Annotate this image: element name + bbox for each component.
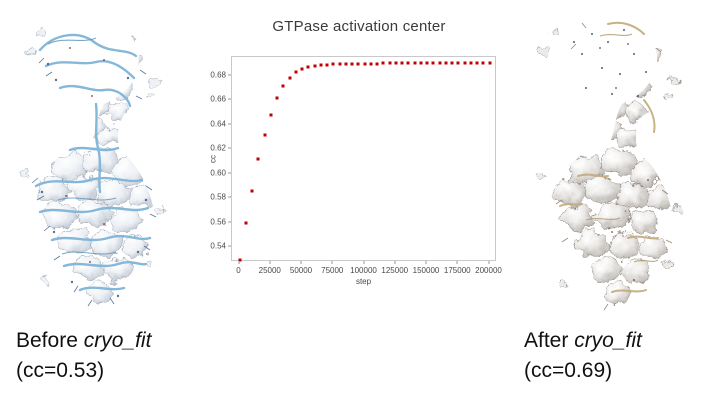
data-point bbox=[282, 84, 285, 87]
data-point bbox=[294, 71, 297, 74]
data-point bbox=[251, 190, 254, 193]
y-axis-tick-mark bbox=[228, 99, 231, 100]
y-axis-tick-mark bbox=[228, 172, 231, 173]
structure-panel-before bbox=[0, 0, 200, 320]
data-point bbox=[344, 62, 347, 65]
ribosome-cryoem-density-after-icon bbox=[516, 0, 716, 320]
x-axis-tick-mark bbox=[394, 261, 395, 264]
data-point bbox=[382, 62, 385, 65]
x-axis-tick-label: 200000 bbox=[475, 266, 502, 275]
data-point bbox=[307, 65, 310, 68]
caption-after-prefix: After bbox=[524, 329, 574, 352]
y-axis-tick-label: 0.68 bbox=[210, 70, 226, 79]
caption-before: Before cryo_fit (cc=0.53) bbox=[16, 326, 151, 386]
data-point bbox=[488, 62, 491, 65]
data-point bbox=[338, 63, 341, 66]
x-axis-tick-label: 175000 bbox=[444, 266, 471, 275]
y-axis-label: cc bbox=[209, 155, 218, 163]
data-point bbox=[482, 62, 485, 65]
x-axis-label: step bbox=[231, 277, 496, 286]
caption-after-italic: cryo_fit bbox=[574, 329, 642, 352]
y-axis-tick-label: 0.60 bbox=[210, 168, 226, 177]
data-point bbox=[432, 62, 435, 65]
data-point bbox=[332, 63, 335, 66]
plot-wrapper: cc step 0.540.560.580.600.620.640.660.68… bbox=[231, 56, 496, 261]
x-axis-tick-mark bbox=[363, 261, 364, 264]
caption-after: After cryo_fit (cc=0.69) bbox=[524, 326, 642, 386]
data-point bbox=[426, 62, 429, 65]
plot-area bbox=[231, 56, 496, 261]
x-axis-tick-label: 25000 bbox=[259, 266, 281, 275]
y-axis-tick-mark bbox=[228, 246, 231, 247]
y-axis-tick-label: 0.66 bbox=[210, 95, 226, 104]
caption-after-cc: (cc=0.69) bbox=[524, 356, 642, 386]
data-point bbox=[376, 62, 379, 65]
data-point bbox=[263, 133, 266, 136]
caption-before-cc: (cc=0.53) bbox=[16, 356, 151, 386]
y-axis-tick-label: 0.62 bbox=[210, 144, 226, 153]
x-axis-tick-mark bbox=[269, 261, 270, 264]
data-point bbox=[351, 62, 354, 65]
data-point bbox=[313, 64, 316, 67]
y-axis-tick-mark bbox=[228, 148, 231, 149]
x-axis-tick-label: 125000 bbox=[381, 266, 408, 275]
data-point bbox=[269, 114, 272, 117]
y-axis-tick-mark bbox=[228, 197, 231, 198]
x-axis-tick-label: 50000 bbox=[290, 266, 312, 275]
data-point bbox=[363, 62, 366, 65]
data-point bbox=[413, 62, 416, 65]
data-point bbox=[401, 62, 404, 65]
data-point bbox=[319, 64, 322, 67]
x-axis-tick-label: 150000 bbox=[413, 266, 440, 275]
y-axis-tick-label: 0.54 bbox=[210, 242, 226, 251]
cc-vs-step-chart: GTPase activation center cc step 0.540.5… bbox=[205, 8, 513, 300]
x-axis-tick-mark bbox=[457, 261, 458, 264]
caption-before-prefix: Before bbox=[16, 329, 84, 352]
x-axis-tick-label: 0 bbox=[236, 266, 240, 275]
data-point bbox=[407, 62, 410, 65]
x-axis-tick-mark bbox=[332, 261, 333, 264]
structure-panel-after bbox=[516, 0, 716, 320]
ribosome-cryoem-density-before-icon bbox=[0, 0, 200, 320]
data-point bbox=[301, 67, 304, 70]
x-axis-tick-mark bbox=[488, 261, 489, 264]
caption-before-italic: cryo_fit bbox=[84, 329, 152, 352]
y-axis-tick-label: 0.56 bbox=[210, 217, 226, 226]
data-point bbox=[469, 62, 472, 65]
data-point bbox=[419, 62, 422, 65]
data-point bbox=[326, 63, 329, 66]
x-axis-tick-mark bbox=[426, 261, 427, 264]
data-point bbox=[244, 221, 247, 224]
data-point bbox=[476, 62, 479, 65]
data-point bbox=[451, 62, 454, 65]
data-point bbox=[444, 62, 447, 65]
data-point bbox=[357, 62, 360, 65]
y-axis-tick-mark bbox=[228, 123, 231, 124]
data-point bbox=[257, 158, 260, 161]
x-axis-tick-label: 100000 bbox=[350, 266, 377, 275]
data-point bbox=[288, 77, 291, 80]
y-axis-tick-mark bbox=[228, 74, 231, 75]
data-point bbox=[463, 62, 466, 65]
data-point bbox=[457, 62, 460, 65]
y-axis-tick-label: 0.64 bbox=[210, 119, 226, 128]
y-axis-tick-label: 0.58 bbox=[210, 193, 226, 202]
data-point bbox=[438, 62, 441, 65]
data-point bbox=[394, 62, 397, 65]
x-axis-tick-mark bbox=[301, 261, 302, 264]
data-point bbox=[388, 62, 391, 65]
chart-title: GTPase activation center bbox=[205, 18, 513, 35]
y-axis-tick-mark bbox=[228, 221, 231, 222]
x-axis-tick-mark bbox=[238, 261, 239, 264]
data-point bbox=[369, 62, 372, 65]
x-axis-tick-label: 75000 bbox=[321, 266, 343, 275]
data-point bbox=[276, 97, 279, 100]
